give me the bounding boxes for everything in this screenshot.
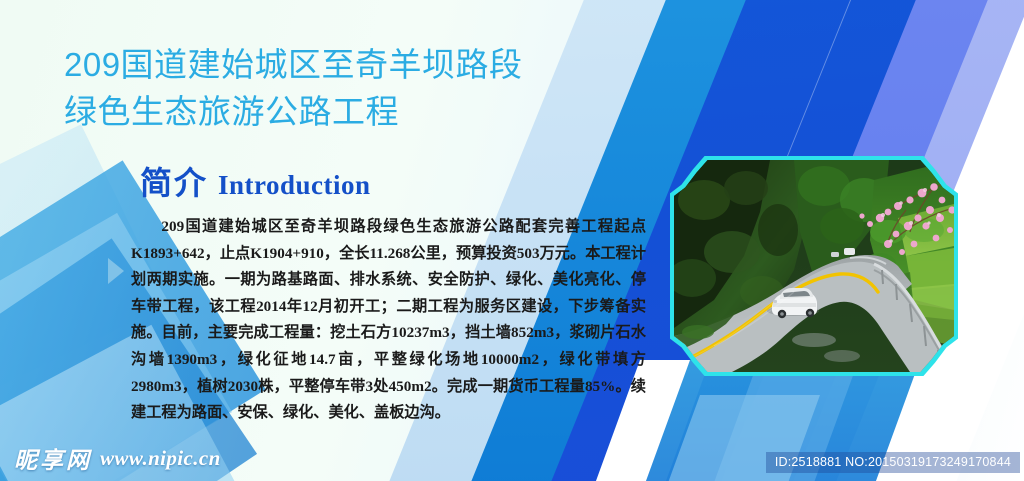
poster-canvas: 209国道建始城区至奇羊坝路段 绿色生态旅游公路工程 简介 Introducti… — [0, 0, 1024, 481]
photo-image — [674, 160, 954, 372]
watermark-url: www.nipic.cn — [100, 446, 221, 471]
image-id-badge: ID:2518881 NO:20150319173249170844 — [766, 452, 1020, 473]
introduction-body: 209国道建始城区至奇羊坝路段绿色生态旅游公路配套完善工程起点K1893+642… — [131, 214, 646, 427]
poster-content: 209国道建始城区至奇羊坝路段 绿色生态旅游公路工程 简介 Introducti… — [0, 0, 1024, 481]
section-heading-cn: 简介 — [140, 158, 208, 204]
introduction-paragraph: 209国道建始城区至奇羊坝路段绿色生态旅游公路配套完善工程起点K1893+642… — [131, 214, 646, 427]
watermark: 昵享网 www.nipic.cn — [14, 441, 221, 475]
section-heading: 简介 Introduction — [140, 158, 371, 204]
mountain-road-illustration — [674, 160, 954, 372]
photo-card — [670, 156, 958, 376]
watermark-logo: 昵享网 — [14, 441, 92, 475]
section-heading-en: Introduction — [218, 170, 371, 201]
page-title: 209国道建始城区至奇羊坝路段 绿色生态旅游公路工程 — [64, 42, 684, 136]
